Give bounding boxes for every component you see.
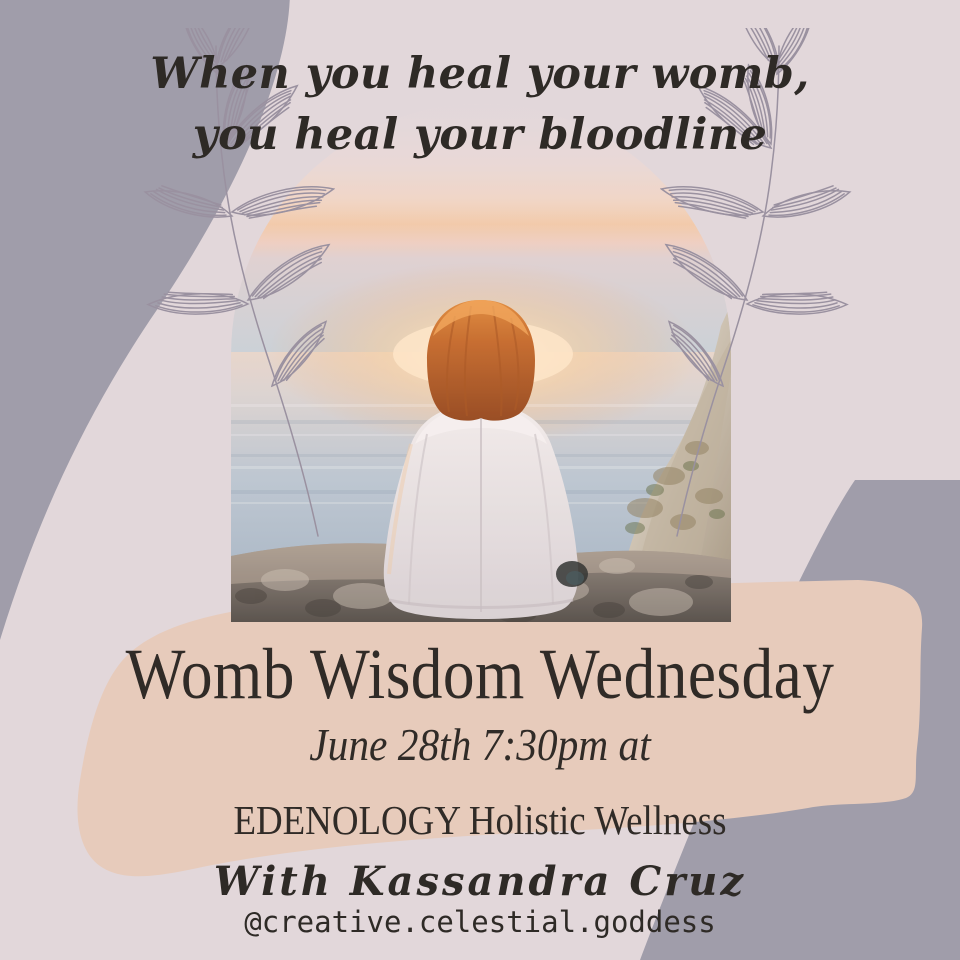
headline-line-1: When you heal your womb, [150,49,809,99]
event-datetime: June 28th 7:30pm at [48,722,912,768]
event-title: Womb Wisdom Wednesday [58,638,903,710]
poster-canvas: When you heal your womb, you heal your b… [0,0,960,960]
event-photo [231,104,731,622]
event-host: With Kassandra Cruz [0,862,960,902]
headline: When you heal your womb, you heal your b… [0,44,960,166]
event-venue: EDENOLOGY Holistic Wellness [48,800,912,841]
social-handle: @creative.celestial.goddess [0,908,960,937]
headline-line-2: you heal your bloodline [0,105,960,166]
